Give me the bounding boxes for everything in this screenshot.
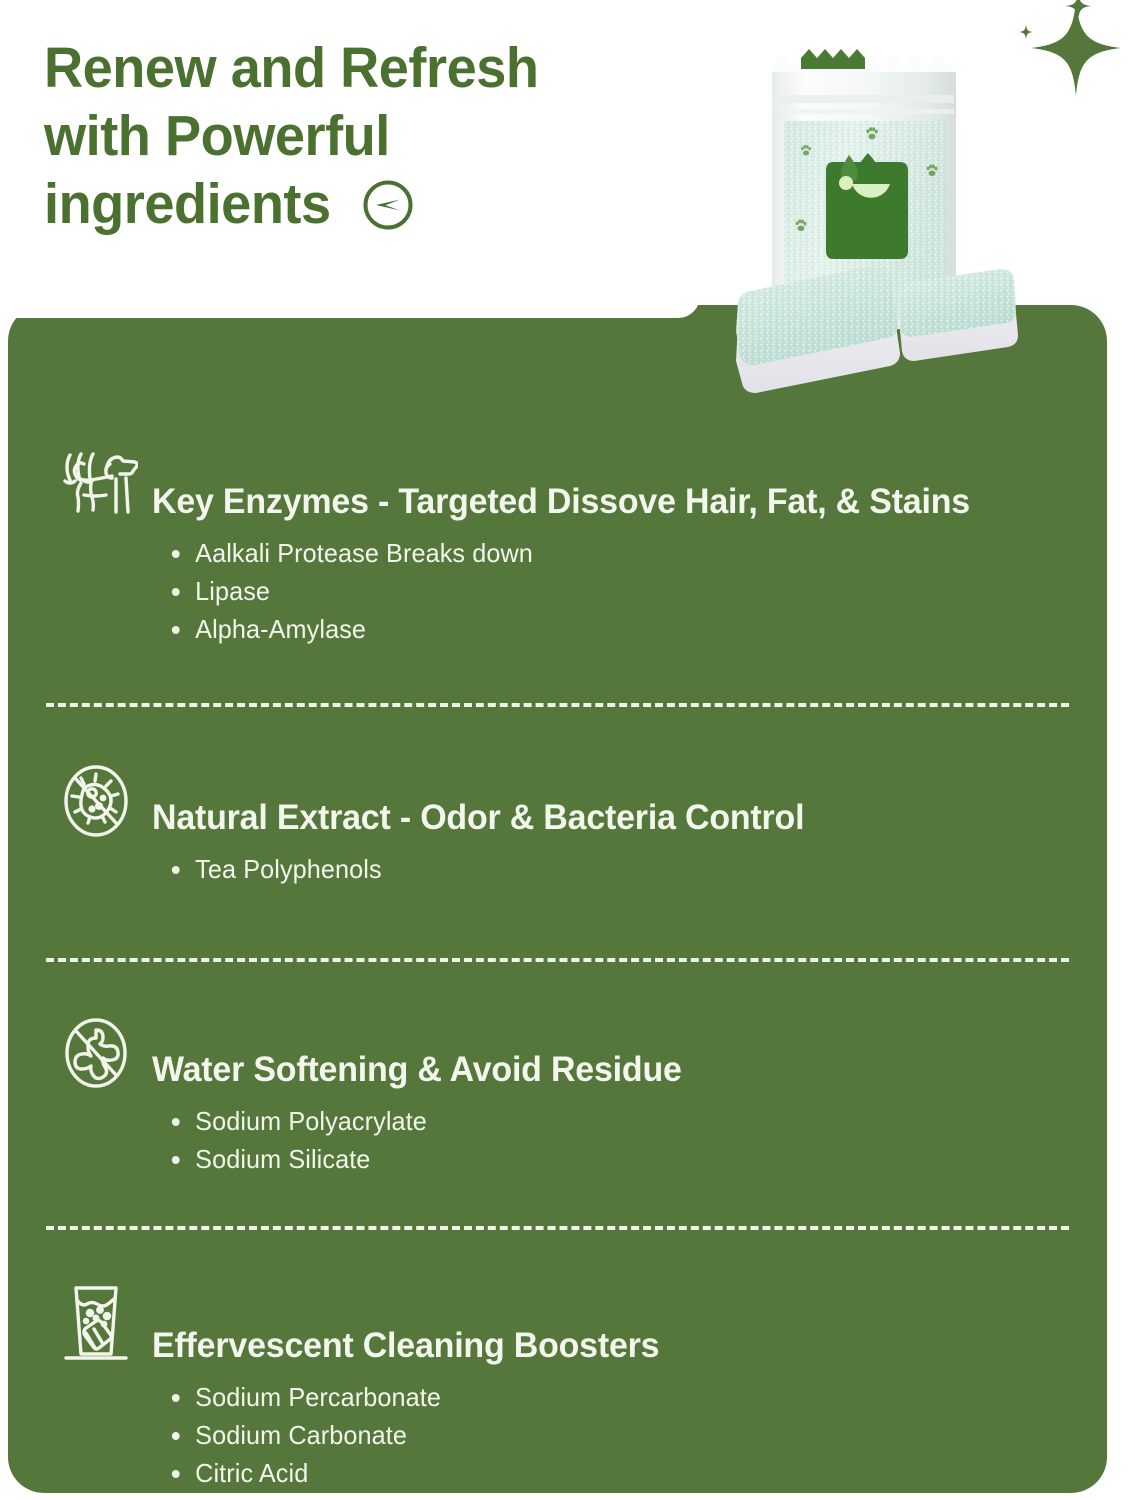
- arrow-circle-right-icon[interactable]: [362, 179, 414, 236]
- sparkle-large-icon: [1031, 0, 1121, 96]
- sparkle-medium-icon: [1065, 0, 1091, 20]
- no-limescale-molecule-icon: [54, 1014, 138, 1092]
- page-title: Renew and Refresh with Powerful ingredie…: [44, 34, 704, 238]
- section-bullet-list: Aalkali Protease Breaks down Lipase Alph…: [54, 534, 1077, 648]
- list-item: Tea Polyphenols: [168, 850, 1050, 888]
- ingredient-sections: Key Enzymes - Targeted Dissove Hair, Fat…: [8, 305, 1107, 1492]
- section-header: Natural Extract - Odor & Bacteria Contro…: [54, 762, 1077, 840]
- headline-line-2: with Powerful: [44, 102, 671, 170]
- section-water-softening: Water Softening & Avoid Residue Sodium P…: [8, 962, 1107, 1178]
- list-item: Sodium Carbonate: [168, 1416, 1050, 1454]
- section-header: Effervescent Cleaning Boosters: [54, 1280, 1077, 1368]
- list-item: Sodium Polyacrylate: [168, 1102, 1050, 1140]
- sparkle-small-icon: [1019, 25, 1033, 40]
- dog-odor-icon: [54, 450, 138, 524]
- tablet-front: [736, 265, 900, 393]
- fizzing-glass-icon: [54, 1280, 138, 1368]
- section-header: Water Softening & Avoid Residue: [54, 1014, 1077, 1092]
- section-title: Key Enzymes - Targeted Dissove Hair, Fat…: [152, 482, 970, 524]
- list-item: Lipase: [168, 572, 1050, 610]
- section-bullet-list: Sodium Percarbonate Sodium Carbonate Cit…: [54, 1378, 1077, 1492]
- section-bullet-list: Sodium Polyacrylate Sodium Silicate: [54, 1102, 1077, 1178]
- headline-line-1: Renew and Refresh: [44, 34, 671, 102]
- section-title: Water Softening & Avoid Residue: [152, 1050, 682, 1092]
- section-title: Natural Extract - Odor & Bacteria Contro…: [152, 798, 804, 840]
- list-item: Sodium Percarbonate: [168, 1378, 1050, 1416]
- sparkle-decoration-group: [1003, 0, 1123, 125]
- section-title: Effervescent Cleaning Boosters: [152, 1326, 659, 1368]
- headline-line-3: ingredients: [44, 170, 331, 238]
- header-block: Renew and Refresh with Powerful ingredie…: [0, 0, 700, 300]
- list-item: Citric Acid: [168, 1454, 1050, 1492]
- tablet-back: [898, 269, 1018, 361]
- list-item: Alpha-Amylase: [168, 610, 1050, 648]
- section-effervescent-boosters: Effervescent Cleaning Boosters Sodium Pe…: [8, 1230, 1107, 1492]
- section-natural-extract: Natural Extract - Odor & Bacteria Contro…: [8, 707, 1107, 888]
- no-bacteria-icon: [54, 762, 138, 840]
- list-item: Aalkali Protease Breaks down: [168, 534, 1050, 572]
- list-item: Sodium Silicate: [168, 1140, 1050, 1178]
- section-bullet-list: Tea Polyphenols: [54, 850, 1077, 888]
- headline-line-3-row: ingredients: [44, 170, 704, 238]
